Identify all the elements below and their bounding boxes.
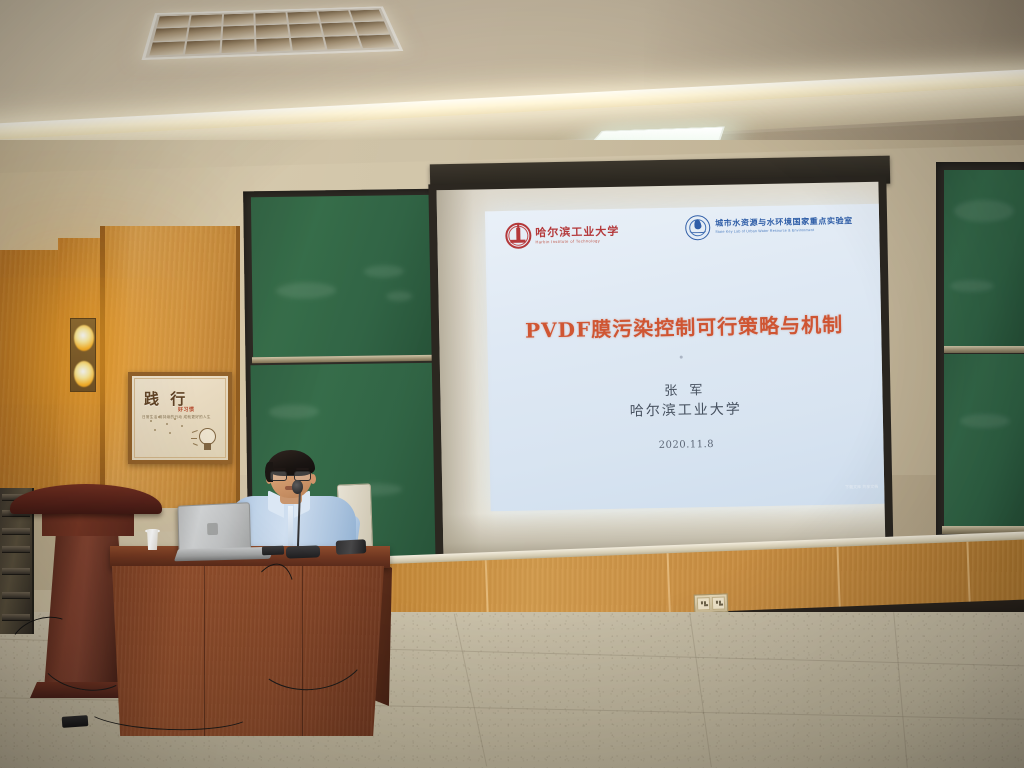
water-lab-seal-icon	[685, 215, 710, 240]
slide-logo-right-name-cn: 城市水资源与水环境国家重点实验室	[715, 217, 853, 228]
wall-poster: 践 行 好习惯 日常生活 用持续的行动 成就更好的人生	[128, 372, 232, 464]
lecture-hall-photo: 践 行 好习惯 日常生活 用持续的行动 成就更好的人生	[0, 0, 1024, 768]
slide-logo-left: 哈尔滨工业大学 Harbin Institute of Technology	[505, 221, 619, 249]
slide-logo-left-name-en: Harbin Institute of Technology	[535, 238, 619, 244]
wall-sconce-icon	[70, 318, 96, 392]
chalkboard	[944, 170, 1024, 346]
chalkboard	[251, 195, 439, 358]
grille-light-icon	[141, 6, 403, 60]
smartphone[interactable]	[336, 539, 367, 555]
poster-decoration	[148, 416, 188, 438]
laptop-logo-icon	[207, 523, 218, 535]
hit-seal-icon	[505, 222, 531, 248]
power-adapter	[62, 715, 89, 728]
chalk-tray	[944, 346, 1024, 353]
slide-logo-left-name-cn: 哈尔滨工业大学	[535, 225, 619, 238]
glasses-icon	[269, 471, 313, 481]
slide-watermark: 下载文库 共享文档	[808, 484, 878, 491]
slide-bullet-dot	[680, 356, 683, 359]
slide-logo-right: 城市水资源与水环境国家重点实验室 State Key Lab of Urban …	[685, 212, 853, 240]
power-outlet[interactable]	[694, 593, 729, 613]
slide-title: PVDF膜污染控制可行策略与机制	[487, 308, 881, 345]
slide-date: 2020.11.8	[489, 436, 883, 455]
projected-slide: 哈尔滨工业大学 Harbin Institute of Technology 城…	[485, 204, 885, 512]
presentation-clicker[interactable]	[262, 546, 284, 556]
poster-subtitle: 好习惯	[178, 406, 195, 413]
laptop[interactable]	[177, 502, 251, 552]
slide-logo-right-name-en: State Key Lab of Urban Water Resource & …	[715, 228, 853, 235]
microphone-base	[286, 545, 320, 558]
paper-cup	[146, 530, 159, 550]
lightbulb-icon	[199, 428, 216, 450]
chalkboard	[944, 354, 1024, 526]
wood-panel	[0, 250, 60, 500]
wood-panel	[100, 226, 240, 508]
projection-screen: 哈尔滨工业大学 Harbin Institute of Technology 城…	[436, 182, 885, 562]
microphone-icon	[292, 480, 303, 494]
